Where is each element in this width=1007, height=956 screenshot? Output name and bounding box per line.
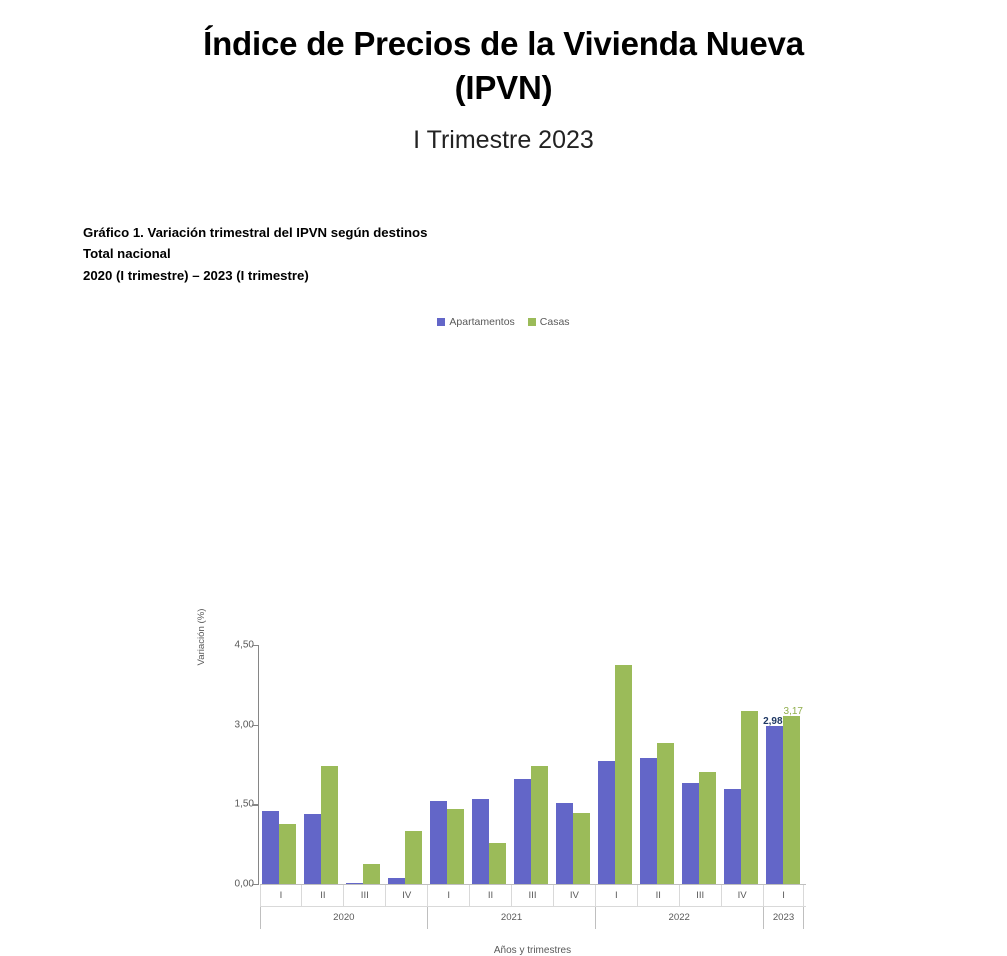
x-axis-quarter-cell: III (511, 885, 553, 906)
bar-casas[interactable] (405, 831, 422, 884)
legend-item-apartamentos[interactable]: Apartamentos (437, 316, 514, 328)
bar-casas[interactable] (531, 766, 548, 884)
bar-casas[interactable] (489, 843, 506, 884)
page-title: Índice de Precios de la Vivienda Nueva (… (0, 22, 1007, 109)
bar-casas[interactable] (699, 772, 716, 884)
x-axis-year-cell: 2022 (595, 907, 763, 929)
bar-group (724, 645, 760, 884)
legend-label: Apartamentos (449, 316, 514, 328)
x-axis-quarter-cell: II (301, 885, 343, 906)
x-axis-quarter-cell: IV (385, 885, 427, 906)
bar-group (514, 645, 550, 884)
bar-apartamentos[interactable] (556, 803, 573, 884)
bar-casas[interactable] (363, 864, 380, 884)
chart-caption: Gráfico 1. Variación trimestral del IPVN… (83, 222, 427, 286)
x-axis-quarter-cell: I (595, 885, 637, 906)
legend-label: Casas (540, 316, 570, 328)
x-axis-quarter-cell: I (260, 885, 302, 906)
x-axis-quarter-cell: III (343, 885, 385, 906)
bar-apartamentos[interactable] (514, 779, 531, 884)
bar-casas[interactable] (783, 716, 800, 884)
x-axis-quarter-cell: IV (721, 885, 763, 906)
legend-swatch-icon (528, 318, 536, 326)
bar-casas[interactable] (615, 665, 632, 884)
y-axis-tick-mark (252, 645, 258, 646)
x-axis-title: Años y trimestres (260, 945, 806, 956)
bar-group (640, 645, 676, 884)
bar-apartamentos[interactable] (472, 799, 489, 884)
x-axis-year-row: 2020202120222023 (260, 906, 806, 929)
y-axis-tick-mark (252, 725, 258, 726)
bar-apartamentos[interactable] (262, 811, 279, 884)
bar-apartamentos[interactable] (304, 814, 321, 884)
bar-apartamentos[interactable] (724, 789, 741, 884)
x-axis-quarter-cell: IV (553, 885, 595, 906)
bar-casas[interactable] (279, 824, 296, 884)
bar-group (262, 645, 298, 884)
bar-casas[interactable] (573, 813, 590, 884)
x-axis-quarter-cell: I (427, 885, 469, 906)
y-axis-tick-labels: 0,001,503,004,50 (222, 641, 254, 885)
plot-area: 2,983,17 (260, 645, 805, 884)
bar-apartamentos[interactable] (682, 783, 699, 884)
x-axis-year-cell: 2020 (260, 907, 428, 929)
y-axis-tick-mark (252, 804, 258, 805)
bar-casas[interactable] (657, 743, 674, 884)
caption-line-2: Total nacional (83, 243, 427, 264)
bar-group (430, 645, 466, 884)
bar-group (682, 645, 718, 884)
bar-apartamentos[interactable] (640, 758, 657, 884)
data-label: 2,98 (763, 716, 782, 727)
bar-apartamentos[interactable] (598, 761, 615, 884)
bar-casas[interactable] (447, 809, 464, 884)
bar-group (304, 645, 340, 884)
page-header: Índice de Precios de la Vivienda Nueva (… (0, 0, 1007, 155)
bar-casas[interactable] (741, 711, 758, 884)
bar-group (346, 645, 382, 884)
page-title-line-1: Índice de Precios de la Vivienda Nueva (0, 22, 1007, 66)
y-axis-title: Variación (%) (196, 582, 207, 692)
bar-group: 2,983,17 (766, 645, 802, 884)
data-label: 3,17 (784, 706, 803, 717)
y-axis-tick-mark (252, 884, 258, 885)
x-axis-quarter-cell: III (679, 885, 721, 906)
caption-line-1: Gráfico 1. Variación trimestral del IPVN… (83, 222, 427, 243)
chart-legend: ApartamentosCasas (0, 316, 1007, 328)
x-axis-labels: IIIIIIIVIIIIIIIVIIIIIIIVI 20202021202220… (260, 884, 806, 929)
x-axis-quarter-cell: II (469, 885, 511, 906)
page-title-line-2: (IPVN) (0, 66, 1007, 110)
x-axis-quarter-cell: I (763, 885, 805, 906)
bar-group (388, 645, 424, 884)
x-axis-year-cell: 2023 (763, 907, 805, 929)
x-axis-quarter-cell: II (637, 885, 679, 906)
chart-container: ApartamentosCasas Variación (%) 0,001,50… (0, 300, 1007, 680)
bar-apartamentos[interactable] (766, 726, 783, 884)
legend-item-casas[interactable]: Casas (528, 316, 570, 328)
bar-group (472, 645, 508, 884)
bar-apartamentos[interactable] (430, 801, 447, 884)
page-subtitle: I Trimestre 2023 (0, 125, 1007, 155)
bar-group (598, 645, 634, 884)
x-axis-year-cell: 2021 (427, 907, 595, 929)
bar-group (556, 645, 592, 884)
legend-swatch-icon (437, 318, 445, 326)
caption-line-3: 2020 (I trimestre) – 2023 (I trimestre) (83, 265, 427, 286)
bar-casas[interactable] (321, 766, 338, 884)
x-axis-quarter-row: IIIIIIIVIIIIIIIVIIIIIIIVI (260, 884, 806, 906)
